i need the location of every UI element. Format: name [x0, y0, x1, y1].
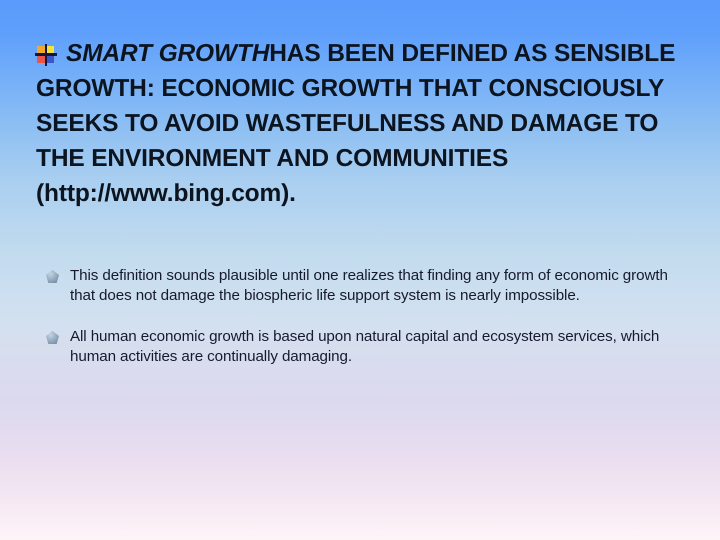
presentation-slide: SMART GROWTH HAS BEEN DEFINED AS SENSIBL…: [0, 0, 720, 540]
title-emphasis-text: SMART GROWTH: [66, 36, 269, 71]
list-item: All human economic growth is based upon …: [46, 327, 694, 366]
title-line-1: SMART GROWTH HAS BEEN DEFINED AS SENSIBL…: [36, 36, 684, 71]
list-item-text: All human economic growth is based upon …: [70, 327, 686, 366]
title-line-4: THE ENVIRONMENT AND COMMUNITIES: [36, 141, 684, 176]
title-line-2: GROWTH: ECONOMIC GROWTH THAT CONSCIOUSLY: [36, 71, 684, 106]
diamond-globe-bullet-icon: [46, 270, 59, 283]
title-line-3: SEEKS TO AVOID WASTEFULNESS AND DAMAGE T…: [36, 106, 684, 141]
title-line-1-rest: HAS BEEN DEFINED AS SENSIBLE: [269, 36, 675, 71]
diamond-globe-bullet-icon: [46, 331, 59, 344]
title-line-5-url: (http://www.bing.com).: [36, 176, 684, 211]
slide-title: SMART GROWTH HAS BEEN DEFINED AS SENSIBL…: [36, 36, 684, 211]
slide-body: This definition sounds plausible until o…: [46, 266, 694, 366]
four-quadrant-color-square-icon: [36, 45, 56, 65]
list-item-text: This definition sounds plausible until o…: [70, 266, 686, 305]
list-item: This definition sounds plausible until o…: [46, 266, 694, 305]
